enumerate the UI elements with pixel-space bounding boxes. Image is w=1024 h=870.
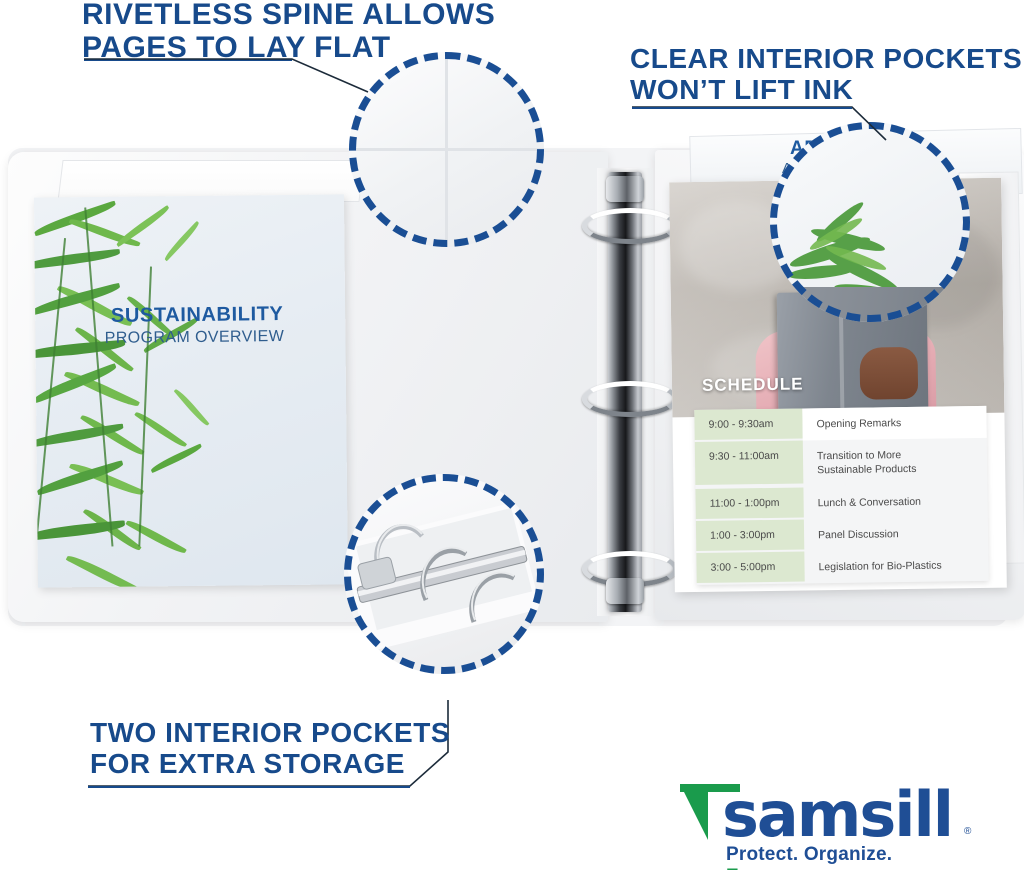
callout-clear-pockets: CLEAR INTERIOR POCKETS WON’T LIFT INK [630,44,1022,106]
samsill-tagline: Protect. Organize. Empower. [726,844,978,870]
product-feature-image: SUSTAINABILITY PROGRAM OVERVIEW SCHEDULE… [0,0,1024,870]
leader-line-1 [84,59,368,92]
samsill-logo: samsill ® Protect. Organize. Empower. [678,782,978,866]
samsill-wordmark: samsill [722,778,952,851]
tagline-part-1: Protect. Organize. [726,844,892,865]
leader-line-2 [632,107,886,140]
callout-two-pockets: TWO INTERIOR POCKETS FOR EXTRA STORAGE [90,718,450,780]
registered-trademark-icon: ® [964,826,971,837]
callout-two-pockets-text: TWO INTERIOR POCKETS FOR EXTRA STORAGE [90,718,450,780]
tagline-part-2: Empower. [726,866,817,870]
callout-clear-pockets-text: CLEAR INTERIOR POCKETS WON’T LIFT INK [630,44,1022,106]
